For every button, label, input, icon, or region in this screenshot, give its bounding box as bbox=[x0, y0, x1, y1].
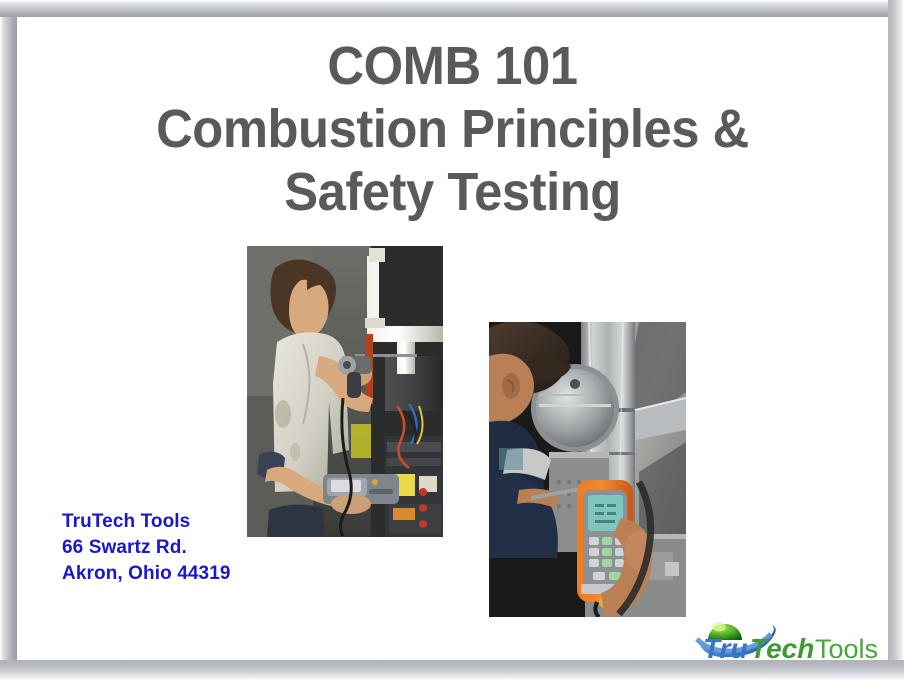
photo-technician-testing-flue-damper bbox=[489, 322, 686, 617]
logo-text-tools: Tools bbox=[815, 634, 878, 660]
frame-bevel-left bbox=[0, 0, 17, 680]
slide-canvas: COMB 101 Combustion Principles & Safety … bbox=[17, 17, 888, 660]
frame-bevel-top bbox=[0, 0, 904, 17]
logo-text-tech: Tech bbox=[750, 633, 814, 660]
trutechtools-logo: Tru Tech Tools bbox=[695, 613, 888, 660]
address-company: TruTech Tools bbox=[62, 509, 231, 535]
frame-bevel-right bbox=[888, 0, 904, 680]
photo-technician-testing-furnace bbox=[247, 246, 443, 537]
address-street: 66 Swartz Rd. bbox=[62, 535, 231, 561]
frame-bevel-bottom bbox=[0, 660, 904, 680]
logo-text-tru: Tru bbox=[703, 633, 748, 660]
page-title: COMB 101 Combustion Principles & Safety … bbox=[43, 35, 862, 224]
address-city-state-zip: Akron, Ohio 44319 bbox=[62, 561, 231, 587]
slide-frame: COMB 101 Combustion Principles & Safety … bbox=[0, 0, 904, 680]
address-block: TruTech Tools 66 Swartz Rd. Akron, Ohio … bbox=[62, 509, 231, 587]
